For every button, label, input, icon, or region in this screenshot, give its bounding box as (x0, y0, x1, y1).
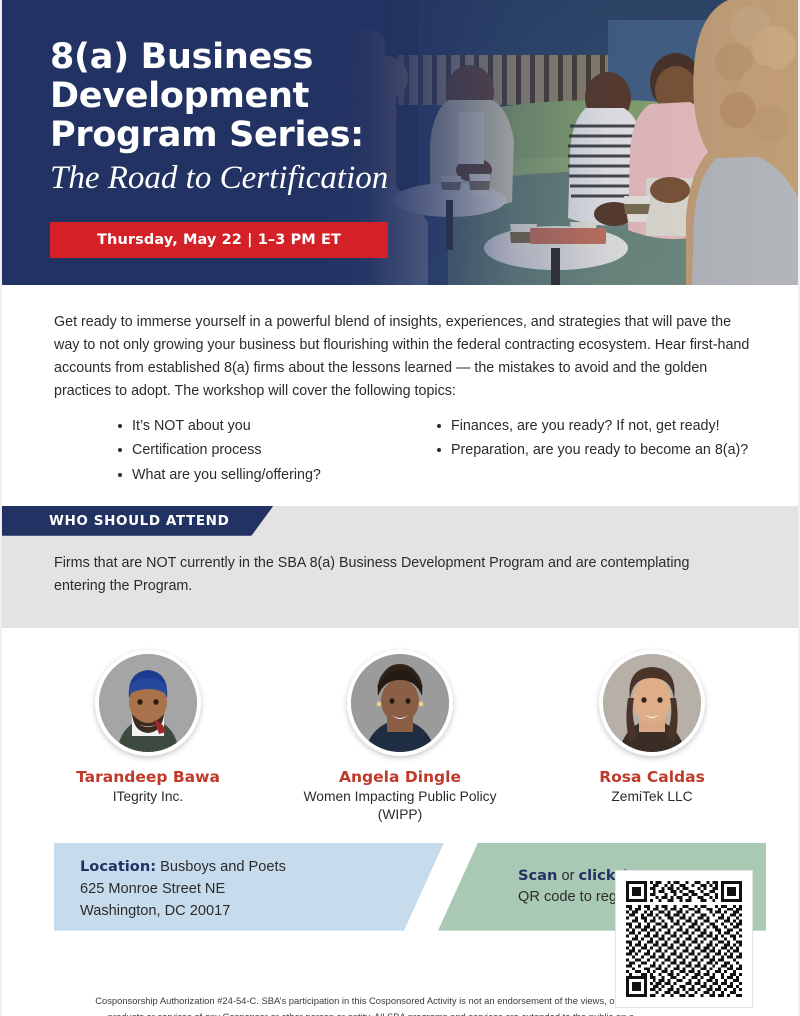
avatar (347, 650, 453, 756)
intro-paragraph: Get ready to immerse yourself in a power… (54, 311, 754, 404)
speaker-org: Women Impacting Public Policy (WIPP) (295, 788, 505, 824)
or-word: or (561, 868, 574, 884)
speaker-portrait-1-icon (99, 654, 197, 752)
hero-text-block: 8(a) Business Development Program Series… (50, 38, 470, 196)
avatar (599, 650, 705, 756)
speaker-org: ZemiTek LLC (547, 788, 757, 806)
click-word: click (579, 867, 616, 884)
who-should-attend-label: WHO SHOULD ATTEND (49, 513, 229, 529)
qr-code-icon[interactable] (616, 871, 752, 1007)
event-date-text: Thursday, May 22 | 1–3 PM ET (97, 232, 341, 248)
speaker-org: ITegrity Inc. (43, 788, 253, 806)
who-should-attend-section: WHO SHOULD ATTEND Firms that are NOT cur… (2, 506, 798, 628)
topic-item: Preparation, are you ready to become an … (435, 438, 754, 463)
speaker-portrait-2-icon (351, 654, 449, 752)
topics-column-right: Finances, are you ready? If not, get rea… (435, 414, 754, 488)
location-register-row: Location: Busboys and Poets 625 Monroe S… (54, 843, 762, 931)
page-title: 8(a) Business Development Program Series… (50, 38, 470, 156)
speakers-section: Tarandeep Bawa ITegrity Inc. (2, 628, 798, 825)
speaker-name: Tarandeep Bawa (43, 768, 253, 787)
title-line-1: 8(a) Business (50, 37, 313, 77)
topic-item: What are you selling/offering? (116, 463, 435, 488)
speaker-name: Rosa Caldas (547, 768, 757, 787)
location-venue-line: Location: Busboys and Poets (80, 856, 444, 878)
page-subtitle: The Road to Certification (50, 160, 470, 196)
scan-word: Scan (518, 867, 557, 884)
speaker-portrait-3-icon (603, 654, 701, 752)
flyer-page: 8(a) Business Development Program Series… (0, 0, 800, 1016)
intro-section: Get ready to immerse yourself in a power… (2, 285, 798, 488)
hero-banner: 8(a) Business Development Program Series… (2, 0, 798, 285)
topics-column-left: It’s NOT about you Certification process… (116, 414, 435, 488)
location-city: Washington, DC 20017 (80, 900, 444, 922)
speaker-name: Angela Dingle (295, 768, 505, 787)
cosponsorship-disclaimer: Cosponsorship Authorization #24-54-C. SB… (94, 993, 648, 1016)
topic-item: It’s NOT about you (116, 414, 435, 439)
title-line-2: Development (50, 76, 309, 116)
location-label: Location: (80, 858, 156, 875)
who-should-attend-tab: WHO SHOULD ATTEND (2, 506, 273, 536)
title-line-3: Program Series: (50, 115, 364, 155)
topics-bullet-grid: It’s NOT about you Certification process… (54, 414, 754, 488)
topic-item: Certification process (116, 438, 435, 463)
speaker-card: Tarandeep Bawa ITegrity Inc. (43, 650, 253, 825)
location-panel: Location: Busboys and Poets 625 Monroe S… (54, 843, 444, 931)
avatar (95, 650, 201, 756)
speaker-card: Rosa Caldas ZemiTek LLC (547, 650, 757, 825)
speaker-card: Angela Dingle Women Impacting Public Pol… (295, 650, 505, 825)
topic-item: Finances, are you ready? If not, get rea… (435, 414, 754, 439)
location-venue: Busboys and Poets (160, 859, 286, 875)
location-street: 625 Monroe Street NE (80, 878, 444, 900)
event-date-ribbon: Thursday, May 22 | 1–3 PM ET (50, 222, 388, 258)
